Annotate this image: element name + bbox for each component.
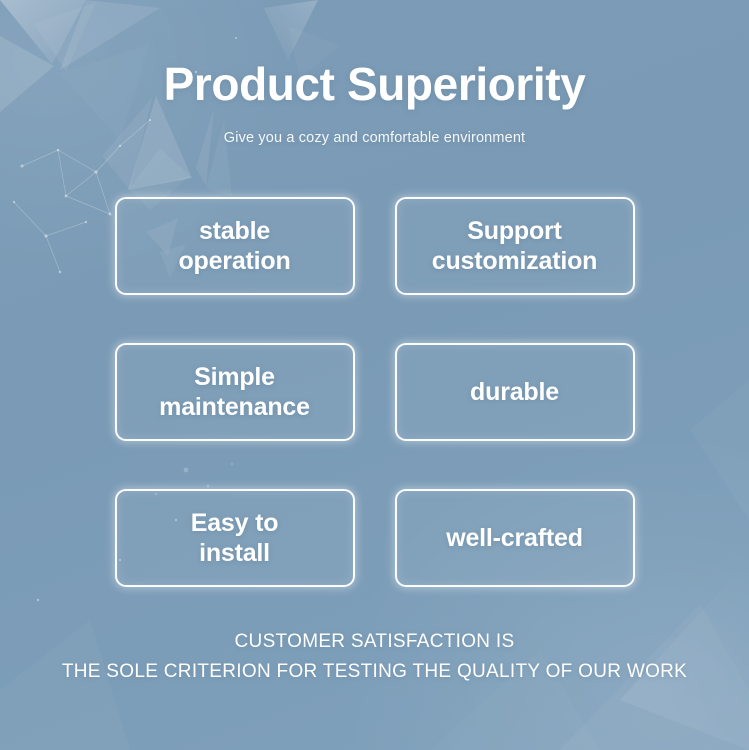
- feature-card-support-customization[interactable]: Support customization: [395, 197, 635, 295]
- feature-card-label-line2: customization: [432, 247, 597, 275]
- feature-card-label: stable operation: [170, 216, 298, 277]
- feature-card-label-line1: stable: [199, 217, 270, 245]
- feature-cards-grid: stable operation Support customization S…: [115, 197, 635, 587]
- footer-slogan-line-1: CUSTOMER SATISFACTION IS: [0, 627, 749, 656]
- banner-header: Product Superiority Give you a cozy and …: [0, 0, 749, 146]
- feature-card-label-line1: Easy to: [191, 509, 279, 537]
- feature-card-label-line2: maintenance: [159, 393, 310, 421]
- feature-card-well-crafted[interactable]: well-crafted: [395, 489, 635, 587]
- feature-card-label-line1: Support: [467, 217, 561, 245]
- product-superiority-banner: Product Superiority Give you a cozy and …: [0, 0, 749, 750]
- feature-card-label-line1: well-crafted: [446, 524, 583, 552]
- feature-card-label-line1: durable: [470, 378, 559, 406]
- footer-slogan-line-2: THE SOLE CRITERION FOR TESTING THE QUALI…: [0, 657, 749, 686]
- page-title: Product Superiority: [0, 60, 749, 108]
- footer-slogan: CUSTOMER SATISFACTION IS THE SOLE CRITER…: [0, 627, 749, 686]
- feature-card-label: Easy to install: [183, 508, 287, 569]
- feature-card-durable[interactable]: durable: [395, 343, 635, 441]
- feature-card-label: Simple maintenance: [151, 362, 318, 423]
- feature-card-stable-operation[interactable]: stable operation: [115, 197, 355, 295]
- feature-card-easy-to-install[interactable]: Easy to install: [115, 489, 355, 587]
- page-subtitle: Give you a cozy and comfortable environm…: [0, 130, 749, 146]
- feature-card-label-line2: operation: [178, 247, 290, 275]
- feature-card-label-line1: Simple: [194, 363, 275, 391]
- feature-card-label: well-crafted: [438, 523, 591, 554]
- feature-card-label-line2: install: [199, 539, 270, 567]
- feature-card-label: Support customization: [424, 216, 605, 277]
- feature-card-simple-maintenance[interactable]: Simple maintenance: [115, 343, 355, 441]
- feature-card-label: durable: [462, 377, 567, 408]
